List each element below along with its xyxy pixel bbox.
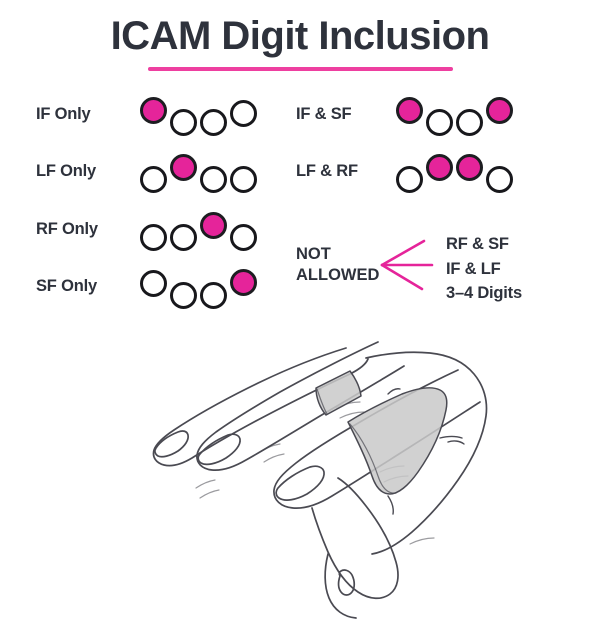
hand-splint-band-small <box>316 371 361 415</box>
digit-dot-sf[interactable] <box>230 224 257 251</box>
digit-dot-if[interactable] <box>140 97 167 124</box>
digit-dot-lf[interactable] <box>170 154 197 181</box>
digit-dot-rf[interactable] <box>200 212 227 239</box>
not-allowed-label-line1: NOT <box>296 244 382 265</box>
legend-row-label: RF Only <box>36 220 98 239</box>
digit-dot-lf[interactable] <box>170 282 197 309</box>
title-block: ICAM Digit Inclusion <box>0 14 600 71</box>
digit-dot-rf[interactable] <box>200 282 227 309</box>
legend-row-label: IF & SF <box>296 105 351 124</box>
digit-dot-lf[interactable] <box>170 109 197 136</box>
not-allowed-label: NOT ALLOWED <box>296 244 382 286</box>
not-allowed-item-1: IF & LF <box>446 257 596 282</box>
digit-dot-rf[interactable] <box>456 154 483 181</box>
digit-dot-if[interactable] <box>396 97 423 124</box>
digit-dot-if[interactable] <box>396 166 423 193</box>
legend-row-label: SF Only <box>36 277 97 296</box>
legend-row-label: IF Only <box>36 105 91 124</box>
digit-dot-sf[interactable] <box>230 166 257 193</box>
digit-dot-if[interactable] <box>140 270 167 297</box>
digit-dot-lf[interactable] <box>426 109 453 136</box>
digit-dot-if[interactable] <box>140 224 167 251</box>
digit-dot-rf[interactable] <box>200 109 227 136</box>
digit-dot-if[interactable] <box>140 166 167 193</box>
digit-dot-sf[interactable] <box>230 100 257 127</box>
digit-dot-lf[interactable] <box>426 154 453 181</box>
not-allowed-label-line2: ALLOWED <box>296 265 382 286</box>
not-allowed-item-2: 3–4 Digits <box>446 281 596 306</box>
digit-dot-group <box>140 264 270 312</box>
digit-dot-rf[interactable] <box>456 109 483 136</box>
digit-dot-group <box>396 149 526 197</box>
not-allowed-item-list: RF & SF IF & LF 3–4 Digits <box>446 232 596 306</box>
legend-row-label: LF Only <box>36 162 96 181</box>
not-allowed-block: NOT ALLOWED RF & SF IF & LF 3–4 Digits <box>296 228 596 314</box>
digit-dot-lf[interactable] <box>170 224 197 251</box>
hand-splint-illustration <box>88 326 518 622</box>
legend-row-label: LF & RF <box>296 162 358 181</box>
digit-dot-sf[interactable] <box>486 97 513 124</box>
digit-dot-group <box>140 149 270 197</box>
hand-fingernail-index <box>276 466 324 500</box>
digit-dot-sf[interactable] <box>230 269 257 296</box>
not-allowed-item-0: RF & SF <box>446 232 596 257</box>
digit-dot-group <box>140 92 270 140</box>
title-underline-rule <box>148 67 453 71</box>
converging-arrow-icon <box>378 228 450 314</box>
page-title: ICAM Digit Inclusion <box>0 14 600 58</box>
digit-dot-sf[interactable] <box>486 166 513 193</box>
hand-fingernail-ring <box>155 431 188 457</box>
hand-fingernail-middle <box>198 434 240 464</box>
digit-dot-group <box>396 92 526 140</box>
digit-dot-group <box>140 207 270 255</box>
digit-dot-rf[interactable] <box>200 166 227 193</box>
